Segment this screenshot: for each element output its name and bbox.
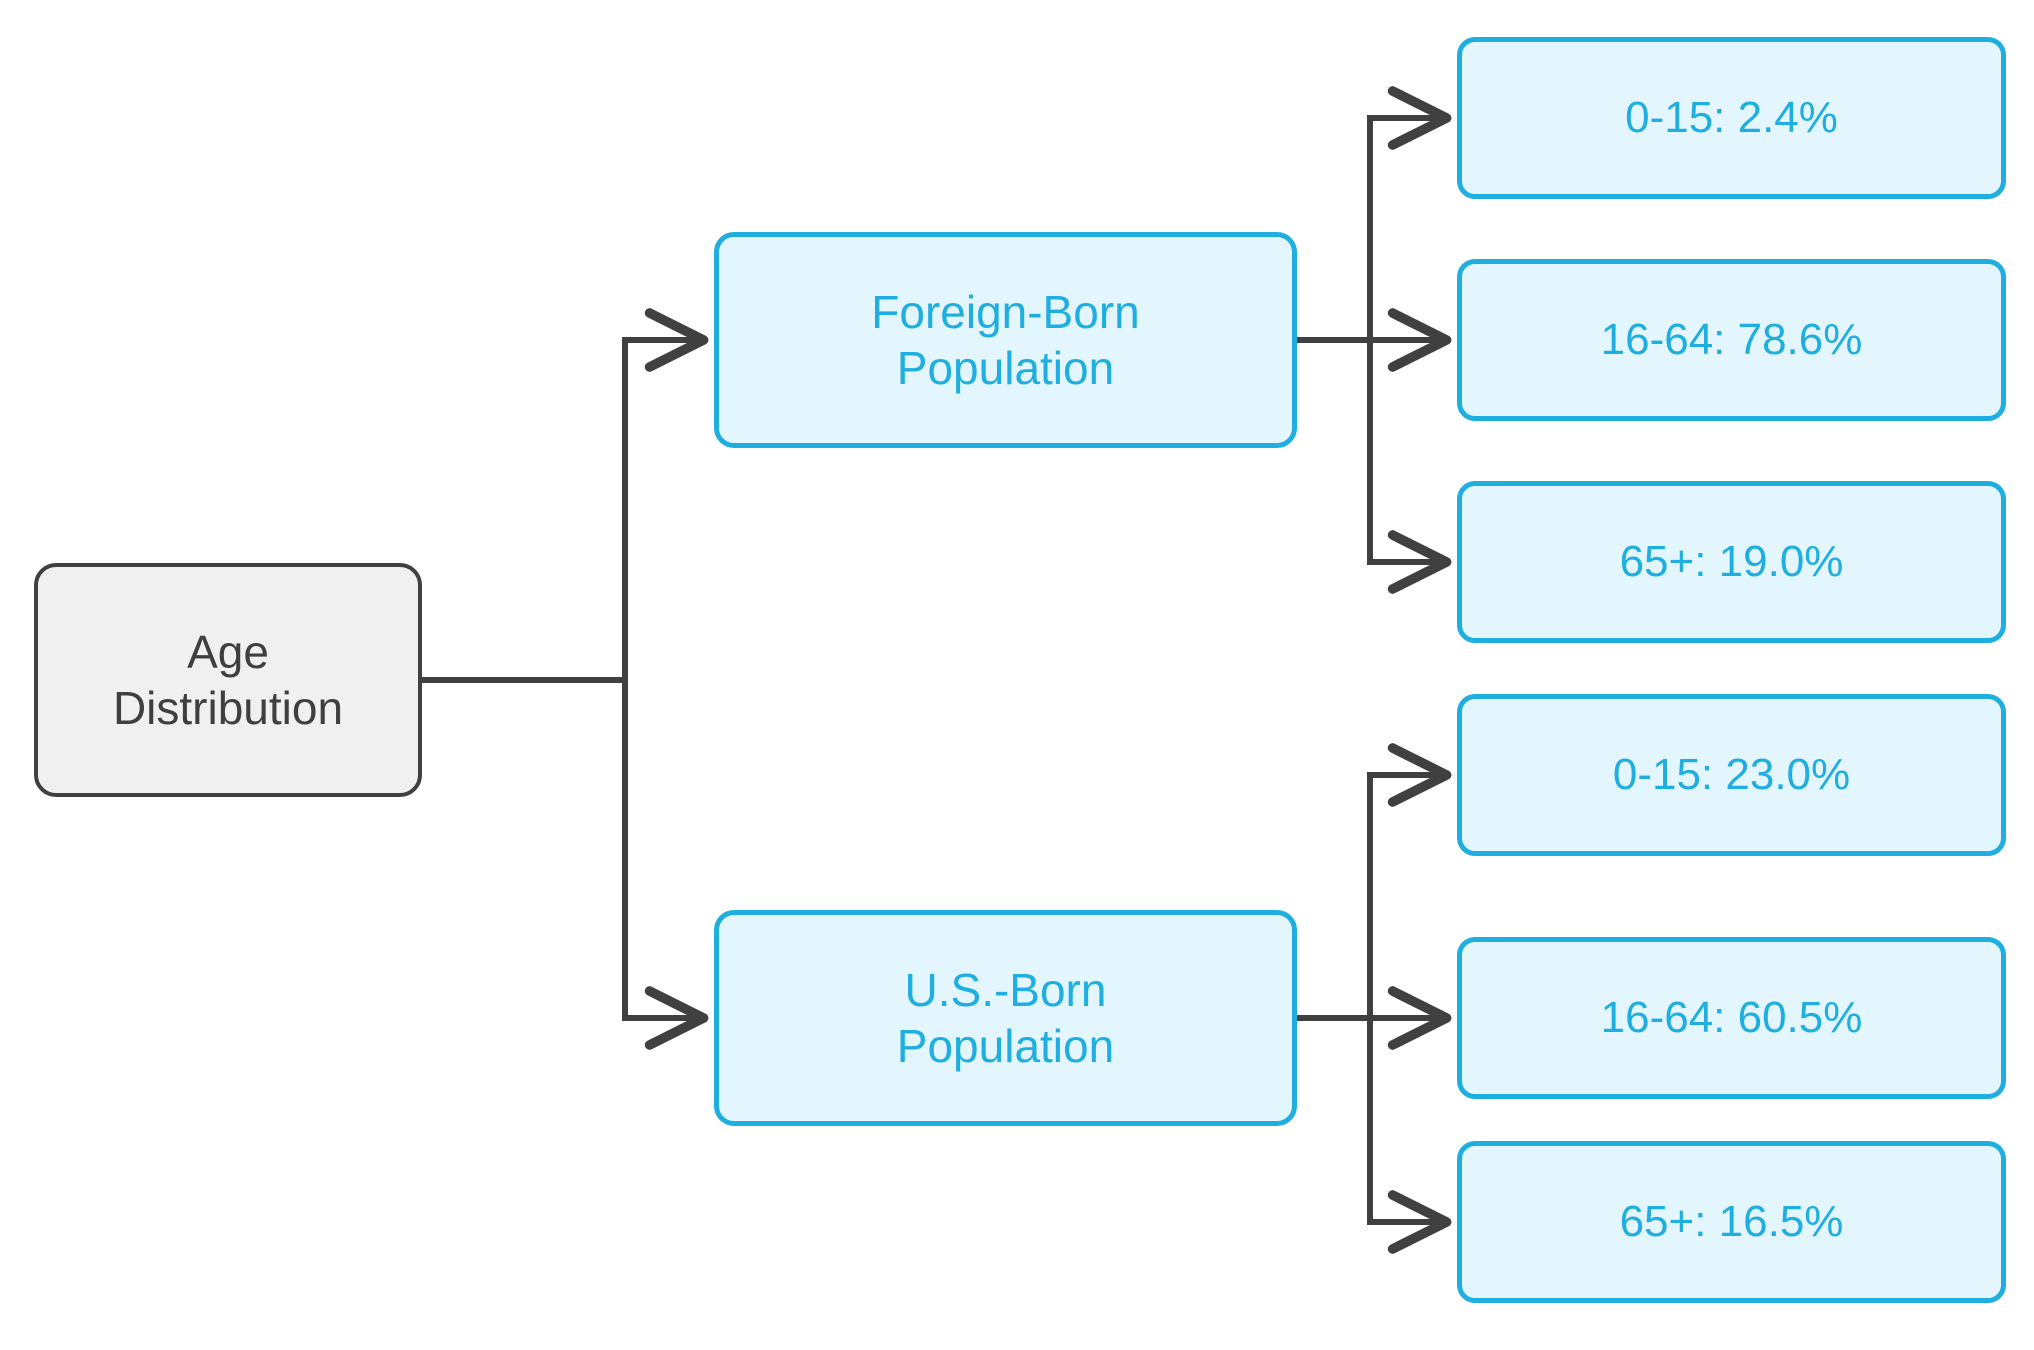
node-label: 16-64: 60.5% [1462,991,2001,1045]
diagram-canvas: Age Distribution Foreign-Born Population… [0,0,2034,1350]
node-foreign-born-65-plus[interactable]: 65+: 19.0% [1457,481,2006,643]
node-label: 0-15: 2.4% [1462,91,2001,145]
node-foreign-born-0-15[interactable]: 0-15: 2.4% [1457,37,2006,199]
node-foreign-born-16-64[interactable]: 16-64: 78.6% [1457,259,2006,421]
node-us-born-16-64[interactable]: 16-64: 60.5% [1457,937,2006,1099]
node-label: 65+: 16.5% [1462,1195,2001,1249]
node-label: U.S.-Born Population [719,962,1292,1074]
node-age-distribution[interactable]: Age Distribution [34,563,422,797]
node-us-born-0-15[interactable]: 0-15: 23.0% [1457,694,2006,856]
node-label: 0-15: 23.0% [1462,748,2001,802]
node-label: Foreign-Born Population [719,284,1292,396]
node-us-born-65-plus[interactable]: 65+: 16.5% [1457,1141,2006,1303]
node-us-born[interactable]: U.S.-Born Population [714,910,1297,1126]
node-label: Age Distribution [38,624,418,736]
node-foreign-born[interactable]: Foreign-Born Population [714,232,1297,448]
node-label: 16-64: 78.6% [1462,313,2001,367]
node-label: 65+: 19.0% [1462,535,2001,589]
